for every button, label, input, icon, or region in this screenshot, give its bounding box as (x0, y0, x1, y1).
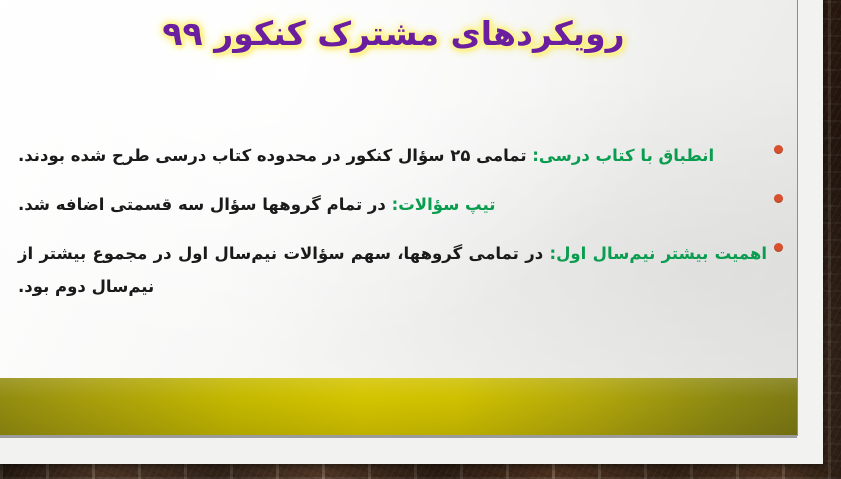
page-title: رویکردهای مشترک کنکور ۹۹ (162, 14, 624, 53)
gold-band-shadow-rule (0, 435, 797, 438)
bullet-body-text: تمامی ۲۵ سؤال کنکور در محدوده کتاب درسی … (18, 146, 532, 165)
list-item: تیپ سؤالات: در تمام گروهها سؤال سه قسمتی… (18, 189, 783, 221)
bullet-dot-icon (774, 145, 783, 154)
list-item: انطباق با کتاب درسی: تمامی ۲۵ سؤال کنکور… (18, 140, 783, 172)
list-item: اهمیت بیشتر نیم‌سال اول: در تمامی گروهها… (18, 238, 783, 302)
bullet-lead-label: اهمیت بیشتر نیم‌سال اول: (550, 244, 768, 263)
slide-stage: رویکردهای مشترک کنکور ۹۹ انطباق با کتاب … (0, 0, 841, 479)
bullet-list: انطباق با کتاب درسی: تمامی ۲۵ سؤال کنکور… (18, 140, 783, 320)
bullet-lead-label: انطباق با کتاب درسی: (532, 146, 714, 165)
slide-title-area: رویکردهای مشترک کنکور ۹۹ (0, 0, 797, 68)
bullet-item-text: تیپ سؤالات: در تمام گروهها سؤال سه قسمتی… (18, 189, 767, 221)
slide-content-panel: رویکردهای مشترک کنکور ۹۹ انطباق با کتاب … (0, 0, 797, 438)
bullet-body-text: در تمام گروهها سؤال سه قسمتی اضافه شد. (18, 195, 392, 214)
bullet-item-text: اهمیت بیشتر نیم‌سال اول: در تمامی گروهها… (18, 238, 767, 302)
bullet-body-text: در تمامی گروهها، سهم سؤالات نیم‌سال اول … (18, 244, 550, 295)
bullet-dot-icon (774, 243, 783, 252)
bullet-item-text: انطباق با کتاب درسی: تمامی ۲۵ سؤال کنکور… (18, 140, 767, 172)
slide-card-frame: رویکردهای مشترک کنکور ۹۹ انطباق با کتاب … (0, 0, 823, 464)
bullet-dot-icon (774, 194, 783, 203)
bullet-lead-label: تیپ سؤالات: (392, 195, 496, 214)
gold-accent-band (0, 378, 797, 435)
